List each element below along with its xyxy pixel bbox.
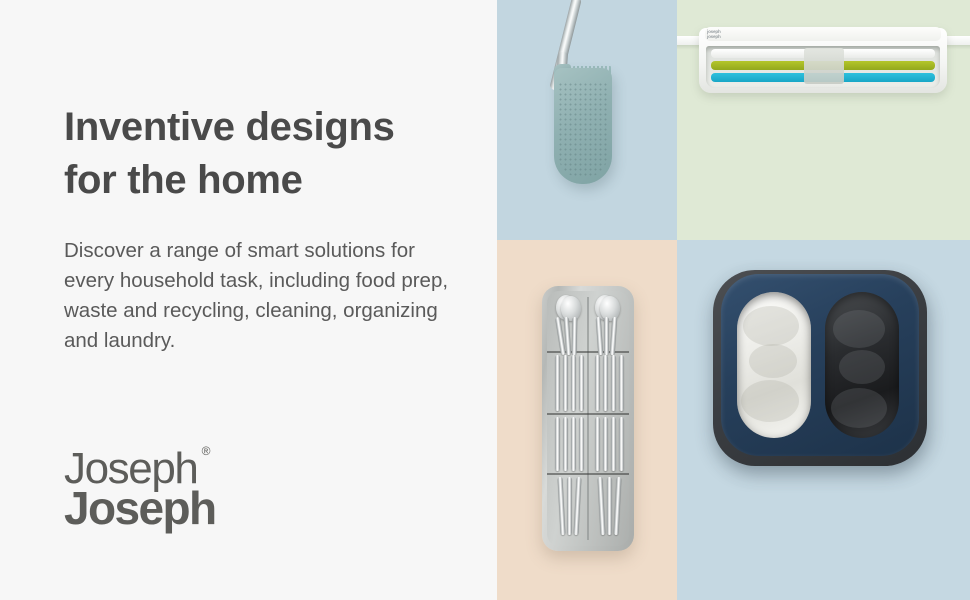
- brand-logo: Joseph® Joseph: [64, 447, 215, 531]
- product-image-grid: joseph joseph: [497, 0, 970, 600]
- spoon-icon: [600, 296, 620, 321]
- laundry-fold: [839, 350, 885, 384]
- teaspoon-icon: [613, 477, 621, 535]
- fork-icon: [563, 355, 568, 411]
- fork-icon: [555, 355, 560, 411]
- basket-compartment-darks: [825, 292, 899, 438]
- fork-icon: [579, 355, 584, 411]
- spoon-handle-icon: [604, 317, 609, 355]
- cutlery-tray-icon: [542, 286, 634, 551]
- laundry-fold: [743, 306, 799, 346]
- text-panel: Inventive designsfor the home Discover a…: [0, 0, 497, 600]
- cutlery-tray-divider: [587, 297, 589, 540]
- laundry-fold: [749, 344, 797, 378]
- fork-icon: [619, 355, 624, 411]
- cutlery-tier-2: [547, 413, 629, 415]
- teaspoon-icon: [567, 477, 572, 535]
- teaspoon-icon: [557, 477, 565, 535]
- brush-head-icon: [554, 68, 612, 184]
- cutlery-tier-3: [547, 473, 629, 475]
- knife-icon: [571, 417, 576, 471]
- board-slot-icon: [706, 46, 940, 88]
- knife-icon: [563, 417, 568, 471]
- body-copy: Discover a range of smart solutions for …: [64, 236, 464, 357]
- cutlery-tray-inner: [547, 291, 629, 546]
- board-case-lip-icon: [705, 27, 941, 41]
- fork-icon: [571, 355, 576, 411]
- board-handle-icon: [804, 48, 844, 84]
- product-image-laundry-basket: [677, 240, 970, 600]
- knife-icon: [611, 417, 616, 471]
- spoon-handle-icon: [572, 317, 578, 355]
- product-image-dish-brush: [497, 0, 677, 240]
- laundry-fold: [831, 388, 887, 428]
- spoon-handle-icon: [610, 317, 618, 355]
- product-image-cutlery-organizer: [497, 240, 677, 600]
- promotional-banner: Inventive designsfor the home Discover a…: [0, 0, 970, 600]
- headline-line-2: for the home: [64, 158, 303, 202]
- headline-line-1: Inventive designs: [64, 105, 395, 149]
- teaspoon-icon: [597, 477, 605, 535]
- product-image-chopping-board-set: joseph joseph: [677, 0, 970, 240]
- laundry-fold: [833, 310, 885, 348]
- brand-logo-line-1-text: Joseph: [64, 444, 197, 493]
- product-brand-mark-line-2: joseph: [707, 35, 721, 40]
- teaspoon-icon: [573, 477, 581, 535]
- laundry-fold: [741, 380, 799, 422]
- registered-trademark-icon: ®: [202, 445, 211, 457]
- basket-rim-icon: [721, 274, 919, 456]
- fork-icon: [595, 355, 600, 411]
- fork-icon: [611, 355, 616, 411]
- cutlery-tier-1: [547, 351, 629, 353]
- knife-icon: [619, 417, 624, 471]
- page-title: Inventive designsfor the home: [64, 101, 484, 207]
- spoon-handle-icon: [596, 317, 604, 355]
- fork-icon: [603, 355, 608, 411]
- knife-icon: [595, 417, 600, 471]
- product-brand-mark: joseph joseph: [707, 30, 721, 40]
- knife-icon: [579, 417, 584, 471]
- knife-icon: [555, 417, 560, 471]
- basket-compartment-whites: [737, 292, 811, 438]
- brand-logo-line-1: Joseph®: [64, 447, 197, 491]
- knife-icon: [603, 417, 608, 471]
- teaspoon-icon: [607, 477, 612, 535]
